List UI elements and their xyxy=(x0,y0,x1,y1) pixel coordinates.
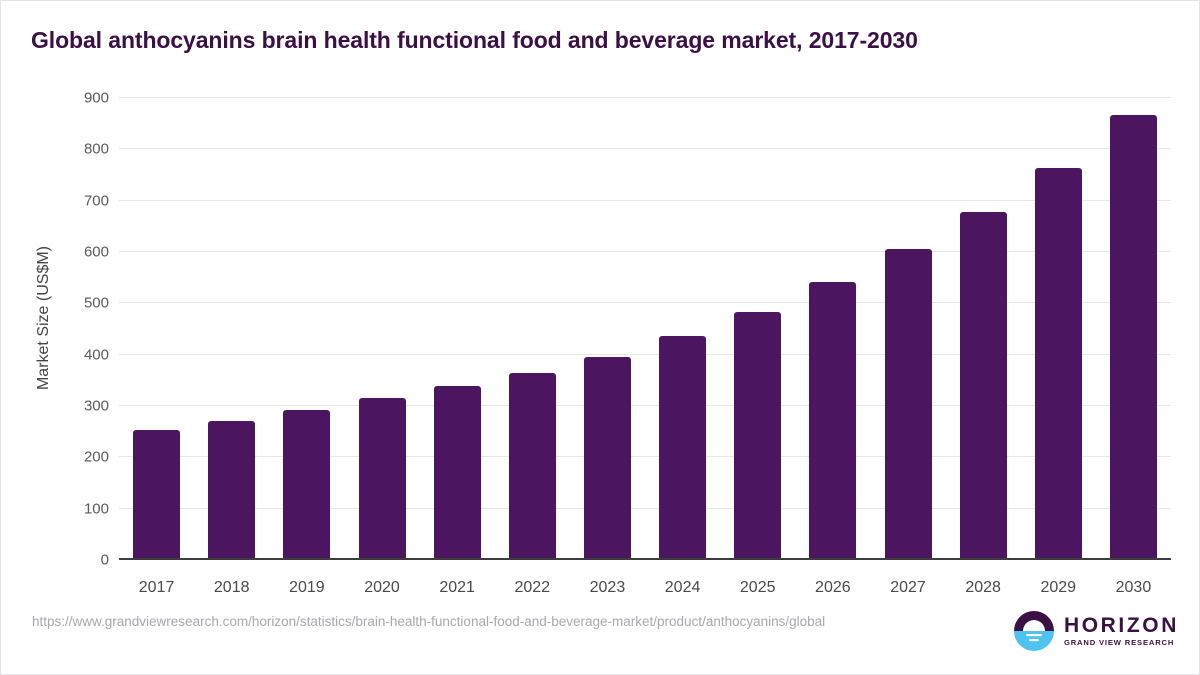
y-axis-tick-label: 400 xyxy=(49,346,109,363)
bar[interactable] xyxy=(208,421,255,560)
bar[interactable] xyxy=(659,336,706,560)
x-axis-tick-label: 2017 xyxy=(139,579,175,597)
x-axis-tick-labels: 2017201820192020202120222023202420252026… xyxy=(119,579,1171,609)
y-axis-tick-label: 700 xyxy=(49,192,109,209)
page-title: Global anthocyanins brain health functio… xyxy=(31,27,918,54)
y-axis-tick-label: 200 xyxy=(49,449,109,466)
horizon-sunrise-icon xyxy=(1013,610,1055,652)
x-axis-tick-label: 2020 xyxy=(364,579,400,597)
y-axis-tick-label: 100 xyxy=(49,500,109,517)
y-axis-tick-label: 900 xyxy=(49,90,109,107)
bars-layer xyxy=(119,98,1171,560)
plot-region: Market Size (US$M) 010020030040050060070… xyxy=(1,81,1200,601)
y-axis-tick-label: 600 xyxy=(49,244,109,261)
x-axis-tick-label: 2028 xyxy=(965,579,1001,597)
plot-area xyxy=(119,98,1171,560)
x-axis-tick-label: 2021 xyxy=(439,579,475,597)
bar[interactable] xyxy=(283,410,330,560)
bar[interactable] xyxy=(359,398,406,560)
brand-logo: HORIZON GRAND VIEW RESEARCH xyxy=(1013,610,1179,652)
x-axis-tick-label: 2022 xyxy=(514,579,550,597)
chart-card: Global anthocyanins brain health functio… xyxy=(0,0,1200,675)
x-axis-tick-label: 2023 xyxy=(590,579,626,597)
x-axis-tick-label: 2027 xyxy=(890,579,926,597)
x-axis-line xyxy=(119,558,1171,560)
bar[interactable] xyxy=(133,430,180,560)
y-axis-tick-label: 500 xyxy=(49,295,109,312)
x-axis-tick-label: 2018 xyxy=(214,579,250,597)
bar[interactable] xyxy=(960,212,1007,560)
bar[interactable] xyxy=(1035,168,1082,560)
source-url[interactable]: https://www.grandviewresearch.com/horizo… xyxy=(32,612,937,631)
x-axis-tick-label: 2025 xyxy=(740,579,776,597)
logo-tagline: GRAND VIEW RESEARCH xyxy=(1064,639,1179,647)
bar[interactable] xyxy=(885,249,932,560)
bar[interactable] xyxy=(734,312,781,560)
footer: https://www.grandviewresearch.com/horizo… xyxy=(1,606,1200,674)
y-axis-tick-label: 300 xyxy=(49,398,109,415)
bar[interactable] xyxy=(809,282,856,560)
x-axis-tick-label: 2029 xyxy=(1040,579,1076,597)
y-axis-tick-label: 0 xyxy=(49,552,109,569)
x-axis-tick-label: 2019 xyxy=(289,579,325,597)
logo-name: HORIZON xyxy=(1064,615,1179,636)
bar[interactable] xyxy=(509,373,556,560)
y-axis-tick-label: 800 xyxy=(49,141,109,158)
logo-text: HORIZON GRAND VIEW RESEARCH xyxy=(1064,615,1179,647)
bar[interactable] xyxy=(434,386,481,560)
bar[interactable] xyxy=(1110,115,1157,560)
x-axis-tick-label: 2030 xyxy=(1116,579,1152,597)
y-axis-tick-labels: 0100200300400500600700800900 xyxy=(49,81,109,571)
bar[interactable] xyxy=(584,357,631,560)
x-axis-tick-label: 2026 xyxy=(815,579,851,597)
x-axis-tick-label: 2024 xyxy=(665,579,701,597)
